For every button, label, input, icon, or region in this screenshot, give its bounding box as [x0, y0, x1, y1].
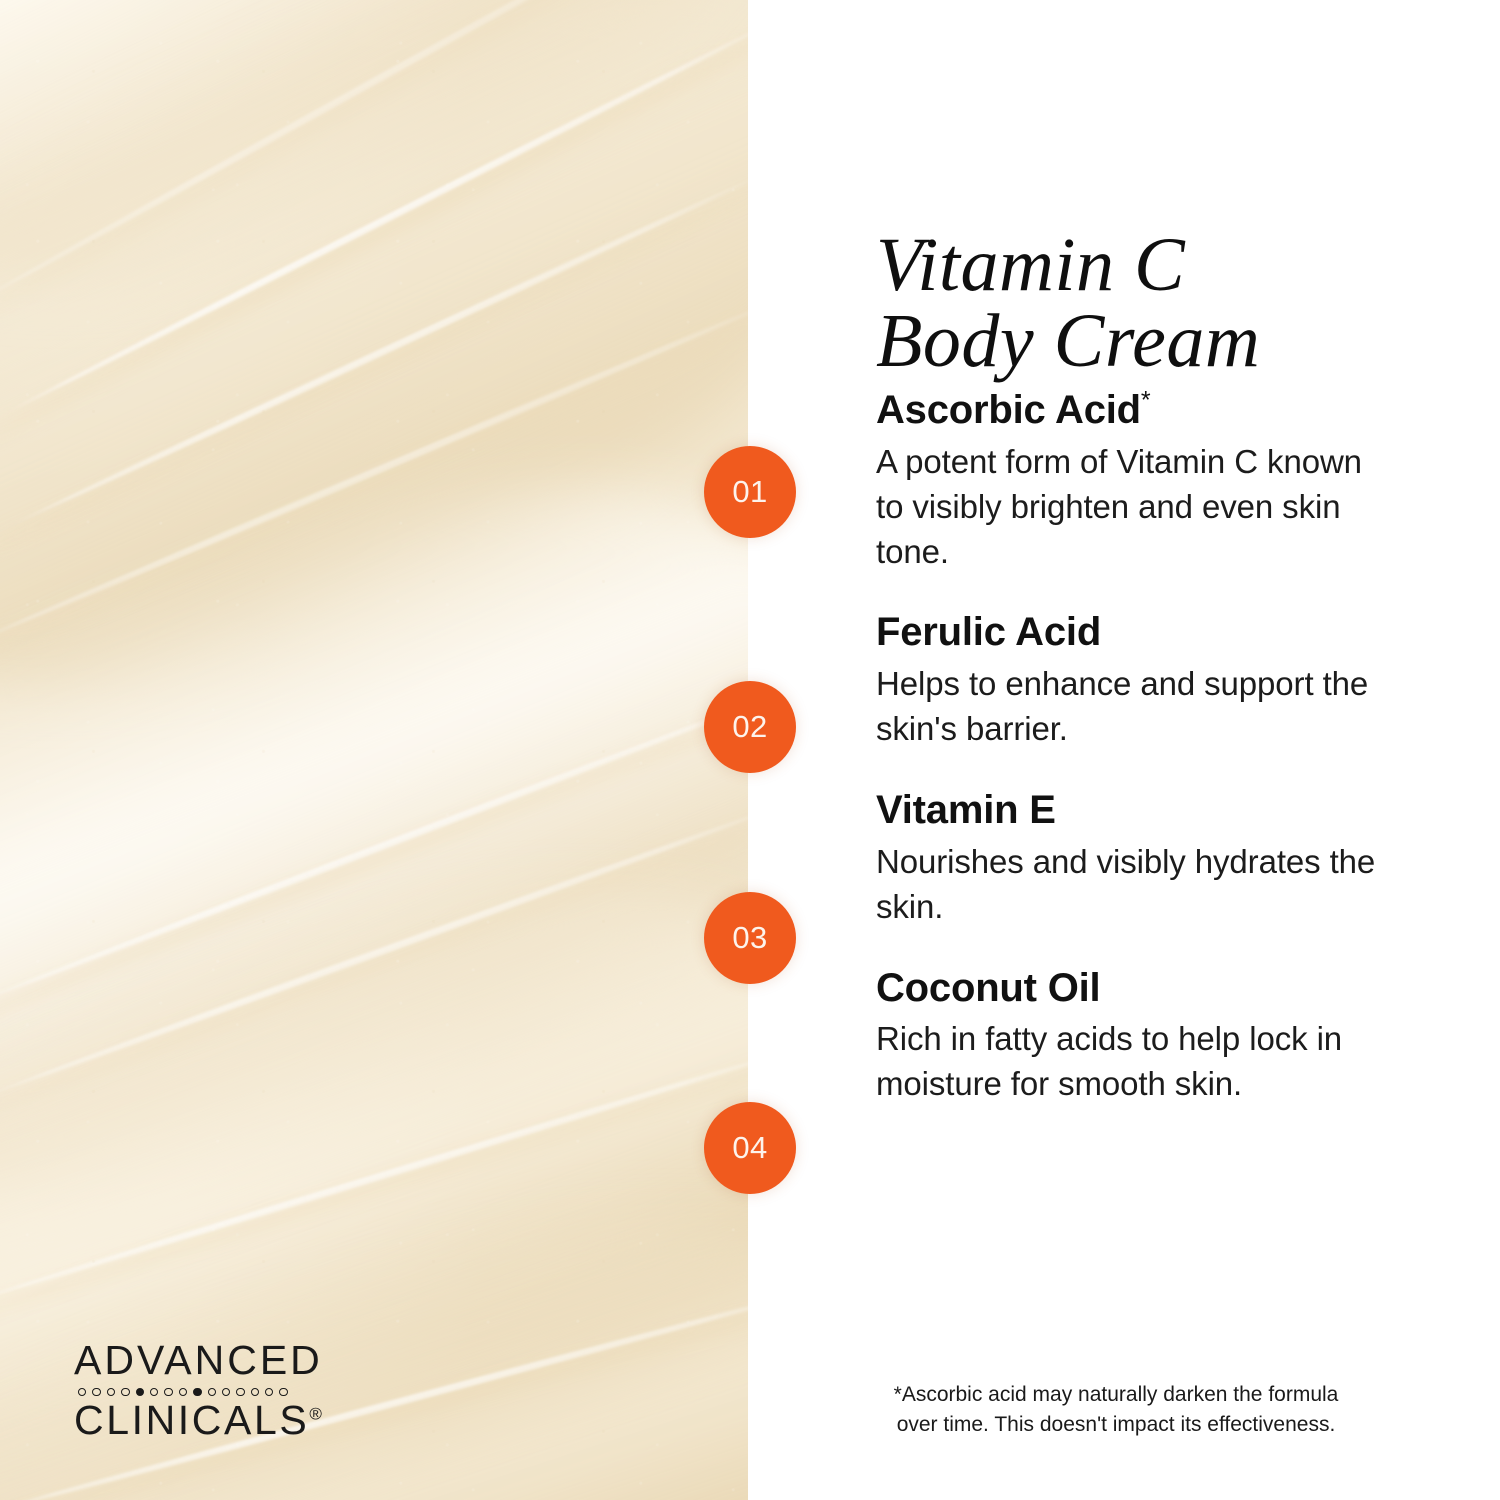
ingredient-name: Vitamin E	[876, 788, 1394, 833]
title-line-2: Body Cream	[876, 303, 1436, 379]
ingredient-badge-04: 04	[704, 1102, 796, 1194]
logo-dot-filled	[136, 1388, 144, 1396]
footnote-asterisk-marker: *	[1141, 387, 1151, 415]
logo-dot-filled	[193, 1388, 201, 1396]
ingredient-name: Ferulic Acid	[876, 610, 1394, 655]
ingredient-name: Coconut Oil	[876, 966, 1394, 1011]
ingredient-name-text: Ascorbic Acid	[876, 388, 1141, 432]
ingredient-item-coconut-oil: Coconut Oil Rich in fatty acids to help …	[876, 966, 1394, 1108]
ingredient-description: Helps to enhance and support the skin's …	[876, 662, 1394, 752]
ingredient-item-ferulic-acid: Ferulic Acid Helps to enhance and suppor…	[876, 610, 1394, 752]
ingredient-badge-02: 02	[704, 681, 796, 773]
logo-dot	[208, 1388, 216, 1396]
title-line-1: Vitamin C	[876, 227, 1436, 303]
logo-dot	[78, 1388, 86, 1396]
logo-dot	[107, 1388, 115, 1396]
logo-dot	[279, 1388, 287, 1396]
brand-logo: ADVANCED CLINICALS®	[74, 1340, 364, 1442]
logo-dot	[164, 1388, 172, 1396]
ingredient-description: Nourishes and visibly hydrates the skin.	[876, 840, 1394, 930]
page-title: Vitamin C Body Cream	[876, 227, 1436, 379]
ingredient-item-ascorbic-acid: Ascorbic Acid* A potent form of Vitamin …	[876, 388, 1394, 574]
footnote-line-1: *Ascorbic acid may naturally darken the …	[856, 1380, 1376, 1410]
logo-word-clinicals: CLINICALS®	[74, 1400, 364, 1442]
logo-dot-row	[78, 1388, 364, 1396]
product-infographic: ADVANCED CLINICALS®	[0, 0, 1500, 1500]
content-panel: Vitamin C Body Cream Ascorbic Acid* A po…	[748, 0, 1500, 1500]
ingredient-list: Ascorbic Acid* A potent form of Vitamin …	[876, 388, 1394, 1107]
logo-dot	[150, 1388, 158, 1396]
logo-dot	[222, 1388, 230, 1396]
logo-dot	[265, 1388, 273, 1396]
logo-word-advanced: ADVANCED	[74, 1340, 364, 1382]
ingredient-badge-03: 03	[704, 892, 796, 984]
ingredient-name-text: Ferulic Acid	[876, 610, 1101, 654]
cream-grain-texture	[0, 0, 748, 1500]
logo-word-clinicals-text: CLINICALS	[74, 1397, 309, 1443]
cream-texture-photo: ADVANCED CLINICALS®	[0, 0, 748, 1500]
ingredient-name-text: Vitamin E	[876, 788, 1056, 832]
footnote-disclaimer: *Ascorbic acid may naturally darken the …	[856, 1380, 1376, 1440]
ingredient-description: A potent form of Vitamin C known to visi…	[876, 440, 1394, 575]
footnote-line-2: over time. This doesn't impact its effec…	[856, 1410, 1376, 1440]
logo-dot	[251, 1388, 259, 1396]
logo-dot	[121, 1388, 129, 1396]
ingredient-name-text: Coconut Oil	[876, 966, 1100, 1010]
logo-dot	[236, 1388, 244, 1396]
logo-dot	[179, 1388, 187, 1396]
logo-dot	[92, 1388, 100, 1396]
ingredient-description: Rich in fatty acids to help lock in mois…	[876, 1017, 1394, 1107]
registered-trademark-icon: ®	[309, 1405, 322, 1424]
ingredient-name: Ascorbic Acid*	[876, 388, 1394, 433]
ingredient-badge-01: 01	[704, 446, 796, 538]
ingredient-item-vitamin-e: Vitamin E Nourishes and visibly hydrates…	[876, 788, 1394, 930]
